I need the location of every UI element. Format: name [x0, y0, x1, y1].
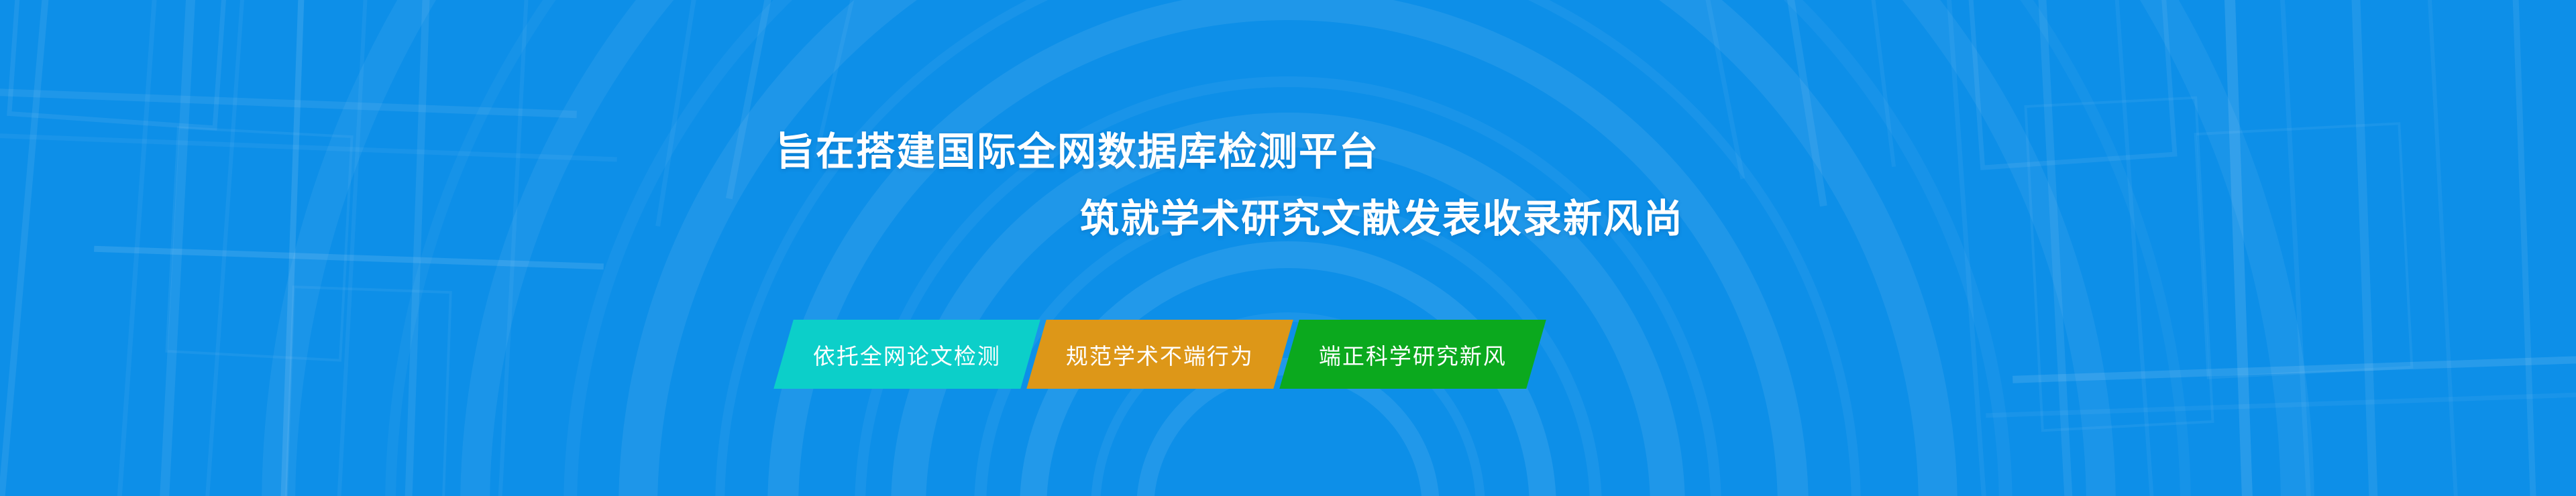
decor-line-right-5: [2277, 0, 2316, 496]
decor-line-left-1: [0, 0, 53, 496]
decor-line-left-2: [111, 0, 162, 496]
decor-line-right-8: [2511, 0, 2539, 496]
decor-line-right-3: [2110, 0, 2161, 496]
arc-ring-8: [715, 0, 1861, 496]
background-decoration: [0, 0, 2576, 496]
decor-hline-left-3: [94, 246, 604, 270]
tag-label-2: 规范学术不端行为: [1036, 338, 1283, 371]
decor-hline-left-1: [0, 88, 577, 119]
decor-line-left-6: [331, 0, 370, 496]
tag-duanzheng-kexue-yanjiu[interactable]: 端正科学研究新风: [1279, 320, 1546, 389]
promo-banner: 旨在搭建国际全网数据库检测平台 筑就学术研究文献发表收录新风尚 依托全网论文检测…: [0, 0, 2576, 496]
arc-ring-11: [460, 0, 2116, 496]
tag-quanwang-lunwen-jiance[interactable]: 依托全网论文检测: [773, 320, 1040, 389]
headline-line-2: 筑就学术研究文献发表收录新风尚: [1080, 200, 2576, 239]
decor-hline-right-1: [2012, 355, 2576, 383]
decor-line-left-7: [401, 0, 431, 496]
decor-hline-right-2: [1986, 391, 2576, 418]
decor-line-left-8: [492, 0, 531, 496]
decor-line-right-2: [2036, 0, 2078, 496]
decor-line-left-3: [154, 0, 197, 496]
arc-ring-12: [385, 0, 2191, 496]
decor-frame-left-1: [7, 0, 231, 131]
arc-ring-7: [767, 0, 1809, 496]
decor-line-right-1: [1942, 0, 1994, 496]
feature-tag-group: 依托全网论文检测 规范学术不端行为 端正科学研究新风: [784, 320, 1536, 389]
decor-line-left-5: [278, 0, 305, 496]
decor-line-right-6: [2350, 0, 2381, 496]
tag-guifan-xueshu-buduan[interactable]: 规范学术不端行为: [1026, 320, 1293, 389]
arc-ring-9: [619, 0, 1957, 496]
headline-block: 旨在搭建国际全网数据库检测平台 筑就学术研究文献发表收录新风尚: [0, 133, 2576, 239]
tag-label-1: 依托全网论文检测: [784, 338, 1030, 371]
decor-line-right-7: [2424, 0, 2463, 496]
tag-label-3: 端正科学研究新风: [1289, 338, 1536, 371]
decor-line-left-4: [198, 0, 249, 496]
decor-line-right-4: [2223, 0, 2255, 496]
arc-ring-10: [563, 0, 2012, 496]
headline-line-1: 旨在搭建国际全网数据库检测平台: [775, 133, 2576, 172]
arc-ring-13: [262, 0, 2314, 496]
decor-frame-left-3: [284, 286, 452, 496]
